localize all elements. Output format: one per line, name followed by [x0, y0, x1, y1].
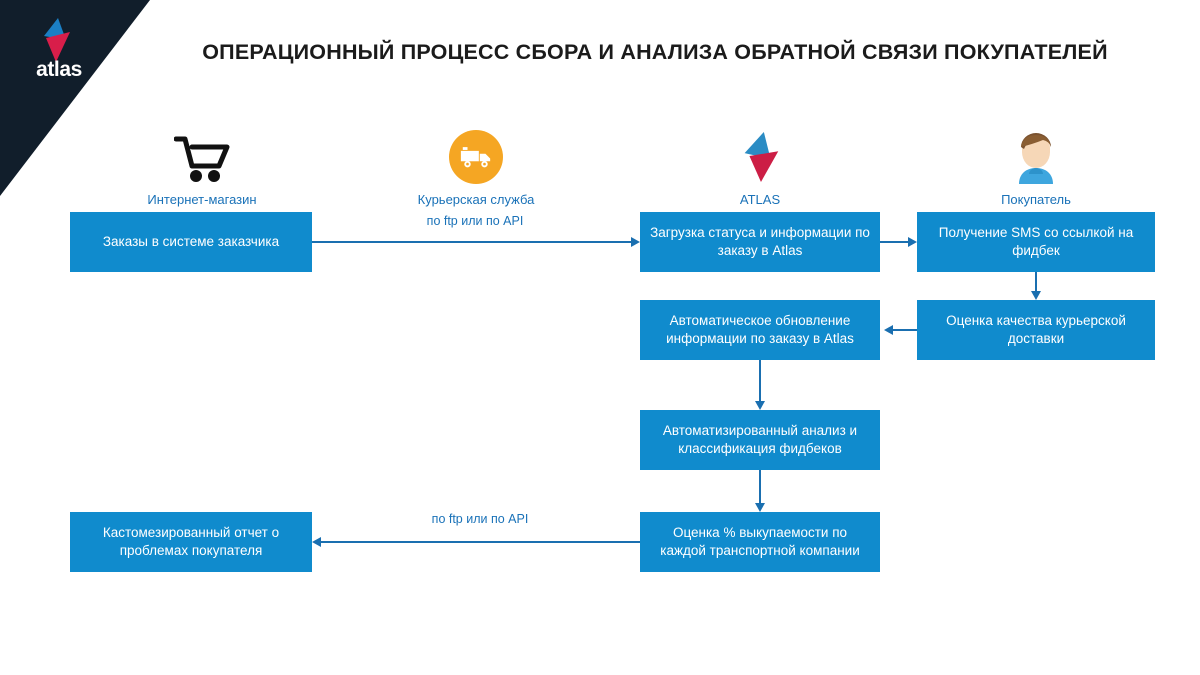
actor-label: ATLAS: [660, 192, 860, 209]
atlas-star-logo-icon: [34, 18, 80, 62]
actor-label: Курьерская служба: [376, 192, 576, 209]
connector-upload-to-sms: [880, 241, 908, 243]
flow-box-receive-sms-feedback-link[interactable]: Получение SMS со ссылкой на фидбек: [917, 212, 1155, 272]
actor-online-shop: Интернет-магазин: [102, 126, 302, 209]
flow-box-label: Кастомезированный отчет о проблемах поку…: [80, 524, 302, 560]
arrow-left-icon: [312, 537, 321, 547]
connector-rating-to-autoupdate: [893, 329, 917, 331]
connector-orders-to-upload: [312, 241, 631, 243]
actor-atlas: ATLAS: [660, 126, 860, 209]
delivery-truck-icon: [376, 126, 576, 184]
truck-icon-circle: [449, 130, 503, 184]
flow-box-orders-in-customer-system[interactable]: Заказы в системе заказчика: [70, 212, 312, 272]
flow-box-rate-courier-delivery[interactable]: Оценка качества курьерской доставки: [917, 300, 1155, 360]
flow-box-label: Оценка качества курьерской доставки: [927, 312, 1145, 348]
arrow-left-icon: [884, 325, 893, 335]
actor-label: Интернет-магазин: [102, 192, 302, 209]
connector-buyout-to-report: [321, 541, 640, 543]
person-avatar-icon: [936, 126, 1136, 184]
page-title: ОПЕРАЦИОННЫЙ ПРОЦЕСС СБОРА И АНАЛИЗА ОБР…: [150, 40, 1160, 66]
brand-logo-text: atlas: [20, 58, 98, 82]
arrow-down-icon: [1031, 291, 1041, 300]
actor-courier-service: Курьерская служба: [376, 126, 576, 209]
arrow-down-icon: [755, 401, 765, 410]
flow-box-label: Загрузка статуса и информации по заказу …: [650, 224, 870, 260]
flow-box-label: Оценка % выкупаемости по каждой транспор…: [650, 524, 870, 560]
shopping-cart-icon: [102, 126, 302, 184]
brand-logo: atlas: [20, 18, 98, 84]
flow-box-label: Получение SMS со ссылкой на фидбек: [927, 224, 1145, 260]
actor-label: Покупатель: [936, 192, 1136, 209]
flow-box-label: Автоматизированный анализ и классификаци…: [650, 422, 870, 458]
flow-box-label: Автоматическое обновление информации по …: [650, 312, 870, 348]
flow-box-buyout-rate-evaluation[interactable]: Оценка % выкупаемости по каждой транспор…: [640, 512, 880, 572]
flow-box-auto-update-order-info[interactable]: Автоматическое обновление информации по …: [640, 300, 880, 360]
arrow-right-icon: [631, 237, 640, 247]
flow-box-label: Заказы в системе заказчика: [103, 233, 279, 251]
connector-analysis-to-buyout: [759, 470, 761, 503]
flow-box-custom-problem-report[interactable]: Кастомезированный отчет о проблемах поку…: [70, 512, 312, 572]
arrow-down-icon: [755, 503, 765, 512]
actor-customer: Покупатель: [936, 126, 1136, 209]
slide-canvas: atlas ОПЕРАЦИОННЫЙ ПРОЦЕСС СБОРА И АНАЛИ…: [0, 0, 1200, 675]
flow-box-upload-status-to-atlas[interactable]: Загрузка статуса и информации по заказу …: [640, 212, 880, 272]
arrow-right-icon: [908, 237, 917, 247]
flow-box-automated-feedback-analysis[interactable]: Автоматизированный анализ и классификаци…: [640, 410, 880, 470]
connector-label-ftp-api-bottom: по ftp или по API: [350, 512, 610, 526]
atlas-star-logo-icon: [660, 126, 860, 184]
connector-label-ftp-api-top: по ftp или по API: [345, 214, 605, 228]
connector-sms-to-rating: [1035, 272, 1037, 291]
connector-autoupdate-to-analysis: [759, 360, 761, 401]
